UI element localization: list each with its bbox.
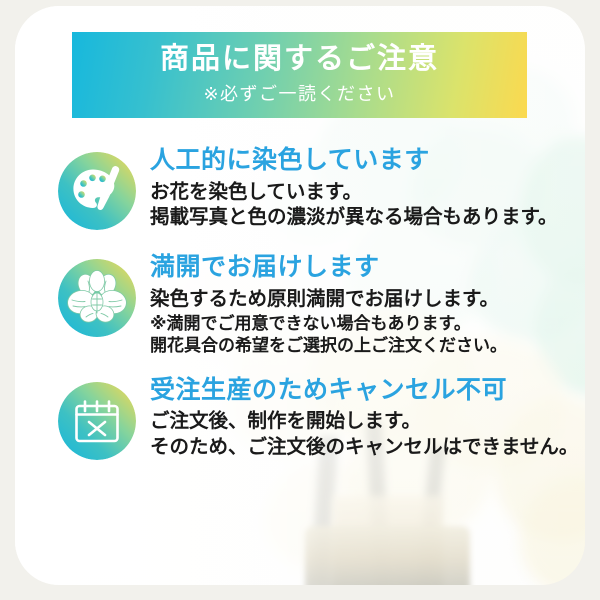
section-title: 満開でお届けします — [150, 253, 585, 283]
section-line: 掲載写真と色の濃淡が異なる場合もあります。 — [150, 205, 585, 231]
section-title: 受注生産のためキャンセル不可 — [150, 376, 585, 406]
orchid-flower-icon — [58, 259, 136, 337]
section-line: ※満開でご用意できない場合もあります。 — [150, 313, 585, 336]
notice-card: 商品に関するご注意 ※必ずご一読ください — [15, 6, 585, 585]
section-line: そのため、ご注文後のキャンセルはできません。 — [150, 435, 585, 461]
notice-section-no-cancel: 受注生産のためキャンセル不可 ご注文後、制作を開始します。 そのため、ご注文後の… — [15, 376, 585, 461]
section-line: ご注文後、制作を開始します。 — [150, 409, 585, 435]
header-banner: 商品に関するご注意 ※必ずご一読ください — [72, 32, 527, 118]
notice-graphic: 商品に関するご注意 ※必ずご一読ください — [0, 0, 600, 600]
notice-section-dyed: 人工的に染色しています お花を染色しています。 掲載写真と色の濃淡が異なる場合も… — [15, 146, 585, 231]
section-line: 染色するため原則満開でお届けします。 — [150, 287, 585, 313]
palette-icon — [58, 152, 136, 230]
section-line: 開花具合の希望をご選択の上ご注文ください。 — [150, 335, 585, 358]
notice-section-full-bloom: 満開でお届けします 染色するため原則満開でお届けします。 ※満開でご用意できない… — [15, 253, 585, 358]
header-subtitle: ※必ずご一読ください — [203, 80, 395, 106]
notice-sections: 人工的に染色しています お花を染色しています。 掲載写真と色の濃淡が異なる場合も… — [15, 146, 585, 461]
page-title: 商品に関するご注意 — [160, 44, 439, 74]
section-title: 人工的に染色しています — [150, 146, 585, 176]
calendar-cancel-icon — [58, 382, 136, 460]
section-line: お花を染色しています。 — [150, 180, 585, 206]
